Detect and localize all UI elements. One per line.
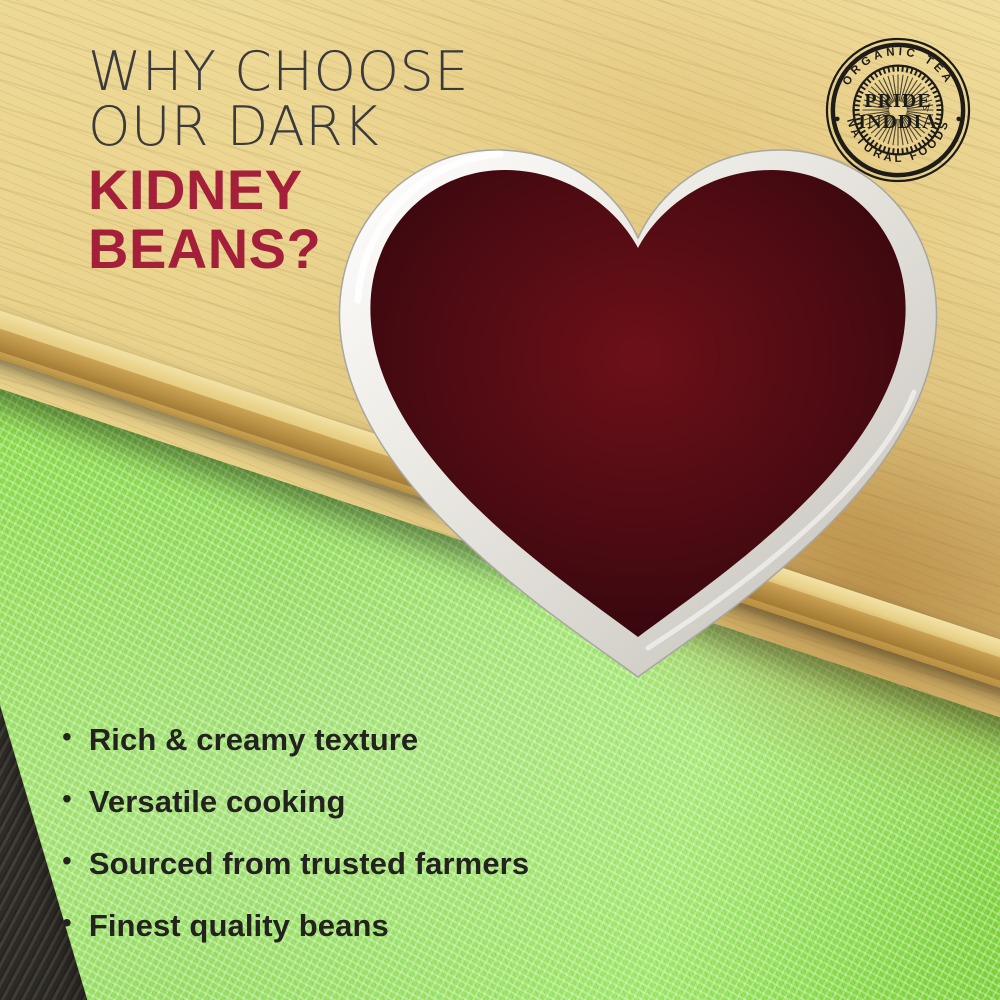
bullet-text: Versatile cooking — [89, 784, 346, 820]
benefit-list: • Rich & creamy texture • Versatile cook… — [62, 722, 702, 970]
brand-logo: PRIDE of INDDIA ORGANIC TEA NATURAL FOOD… — [824, 36, 972, 184]
bullet-text: Sourced from trusted farmers — [89, 846, 529, 882]
logo-brand-line-2: INDDIA — [858, 111, 937, 133]
logo-brand-line-1: PRIDE — [864, 90, 931, 112]
list-item: • Sourced from trusted farmers — [62, 846, 702, 882]
list-item: • Versatile cooking — [62, 784, 702, 820]
headline-line-1: WHY CHOOSE — [88, 44, 648, 99]
headline: WHY CHOOSE OUR DARK KIDNEY BEANS? — [88, 44, 648, 279]
headline-accent: KIDNEY BEANS? — [88, 161, 648, 277]
bullet-text: Finest quality beans — [89, 908, 389, 944]
headline-line-3: KIDNEY — [88, 161, 648, 218]
logo-dot-right — [956, 117, 960, 121]
promo-graphic: WHY CHOOSE OUR DARK KIDNEY BEANS? • Rich… — [0, 0, 1000, 1000]
bullet-dot-icon: • — [62, 723, 72, 751]
bullet-text: Rich & creamy texture — [89, 722, 418, 758]
list-item: • Rich & creamy texture — [62, 722, 702, 758]
headline-line-2: OUR DARK — [88, 99, 648, 154]
bullet-dot-icon: • — [62, 847, 72, 875]
list-item: • Finest quality beans — [62, 908, 702, 944]
bullet-dot-icon: • — [62, 785, 72, 813]
logo-dot-left — [835, 117, 839, 121]
headline-line-4: BEANS? — [88, 220, 648, 277]
bullet-dot-icon: • — [62, 909, 72, 937]
